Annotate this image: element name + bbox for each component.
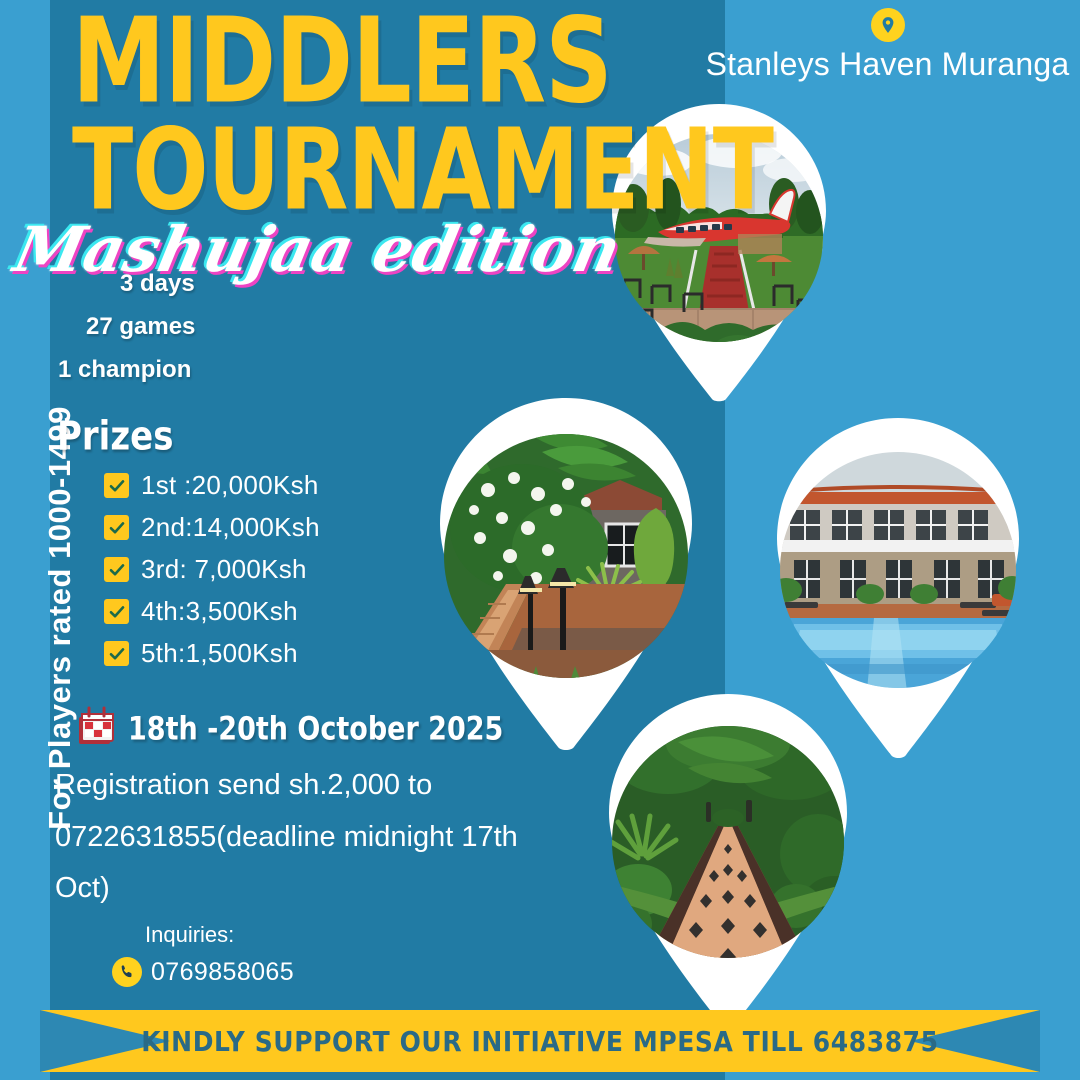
check-icon — [104, 473, 129, 498]
check-icon — [104, 557, 129, 582]
calendar-icon — [72, 705, 120, 753]
prize-row: 5th:1,500Ksh — [104, 638, 320, 669]
stats-block: 3 days 27 games 1 champion — [58, 272, 195, 401]
registration-info: Registration send sh.2,000 to 0722631855… — [55, 760, 525, 915]
prize-label: 5th:1,500Ksh — [141, 638, 298, 669]
stat-games: 27 games — [86, 315, 195, 339]
stat-champion: 1 champion — [58, 358, 195, 382]
prize-label: 1st :20,000Ksh — [141, 470, 319, 501]
support-ribbon-text: KINDLY SUPPORT OUR INITIATIVE MPESA TILL… — [0, 1006, 1080, 1075]
title-line-2: TOURNAMENT — [72, 119, 704, 223]
prize-label: 2nd:14,000Ksh — [141, 512, 320, 543]
prize-row: 3rd: 7,000Ksh — [104, 554, 320, 585]
prize-label: 4th:3,500Ksh — [141, 596, 298, 627]
check-icon — [104, 599, 129, 624]
phone-icon — [112, 957, 142, 987]
prize-row: 4th:3,500Ksh — [104, 596, 320, 627]
headline-block: MIDDLERS TOURNAMENT — [72, 8, 692, 200]
photo-pin-tiled-walkway — [578, 694, 878, 1024]
prize-row: 1st :20,000Ksh — [104, 470, 320, 501]
event-dates: 18th -20th October 2025 — [128, 710, 503, 747]
poster-canvas: For Players rated 1000-1499 MIDDLERS TOU… — [0, 0, 1080, 1080]
venue-block: Stanleys Haven Muranga — [700, 8, 1075, 83]
title-line-1: MIDDLERS — [72, 8, 704, 116]
check-icon — [104, 515, 129, 540]
event-date-row: 18th -20th October 2025 — [72, 705, 503, 753]
venue-name: Stanleys Haven Muranga — [700, 46, 1075, 83]
prize-label: 3rd: 7,000Ksh — [141, 554, 307, 585]
prize-row: 2nd:14,000Ksh — [104, 512, 320, 543]
prizes-heading: Prizes — [57, 413, 173, 460]
check-icon — [104, 641, 129, 666]
phone-number: 0769858065 — [151, 958, 294, 987]
inquiries-phone-row[interactable]: 0769858065 — [112, 957, 294, 987]
location-pin-icon — [871, 8, 905, 42]
stat-days: 3 days — [120, 272, 195, 296]
inquiries-label: Inquiries: — [145, 922, 234, 948]
prizes-list: 1st :20,000Ksh 2nd:14,000Ksh 3rd: 7,000K… — [104, 470, 320, 680]
